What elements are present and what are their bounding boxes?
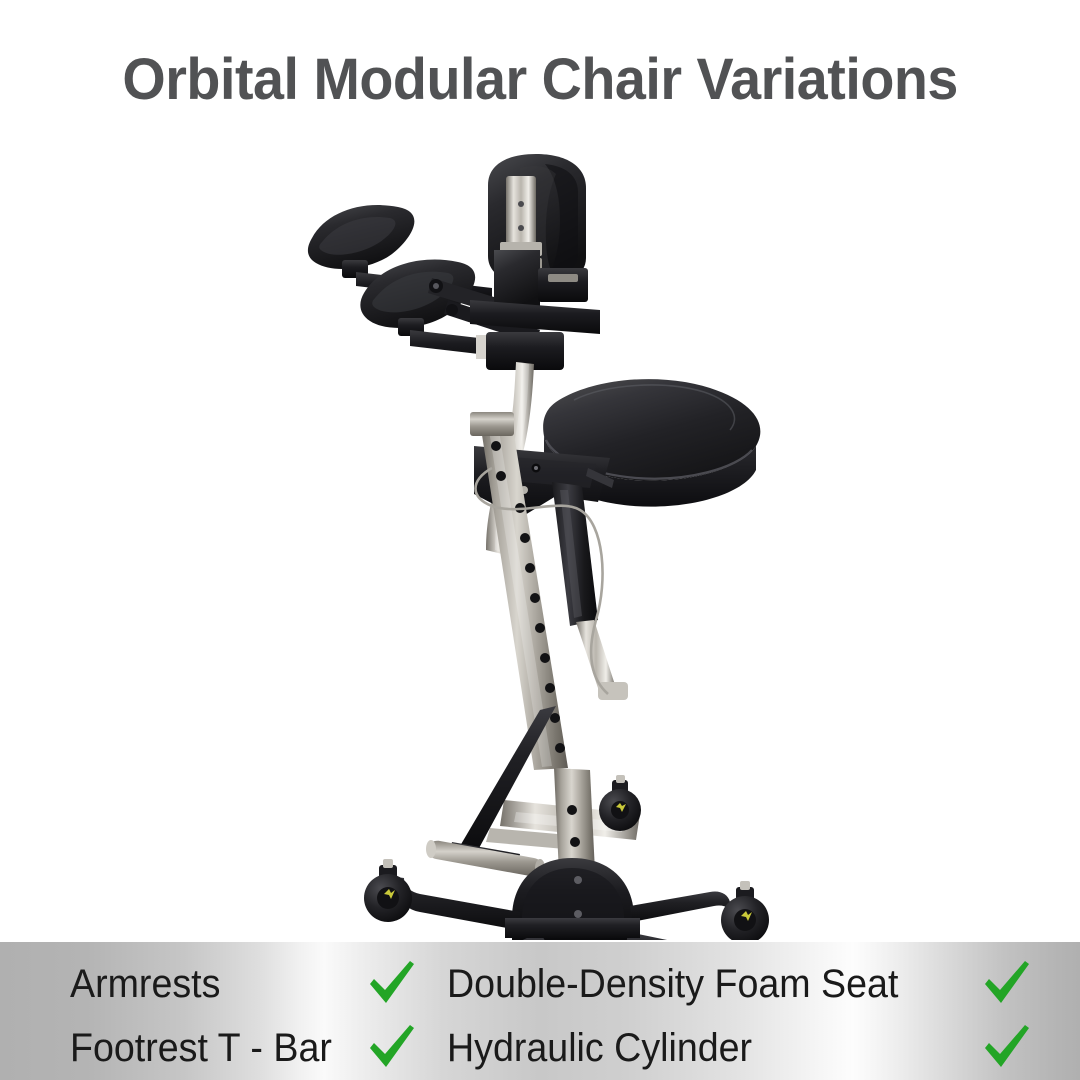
check-icon — [980, 958, 1032, 1010]
armrest-pad-rear — [308, 205, 414, 269]
feature-bar: Armrests Double-Density Foam Seat Footre… — [0, 942, 1080, 1080]
column-cap — [470, 412, 514, 436]
check-icon — [980, 1022, 1032, 1074]
feature-label: Double-Density Foam Seat — [447, 964, 898, 1004]
backrest-mount — [538, 268, 588, 302]
feature-item-double-density-foam-seat: Double-Density Foam Seat — [435, 952, 1080, 1016]
feature-label: Footrest T - Bar — [70, 1028, 332, 1068]
feature-label: Armrests — [70, 964, 220, 1004]
product-image — [0, 150, 1080, 940]
feature-item-hydraulic-cylinder: Hydraulic Cylinder — [435, 1016, 1080, 1080]
page-title: Orbital Modular Chair Variations — [122, 51, 957, 109]
footrest-t-bar — [426, 706, 556, 877]
backrest-lower-wrap — [494, 250, 540, 310]
carrier-rail — [470, 300, 600, 334]
feature-item-armrests: Armrests — [0, 952, 435, 1016]
title-area: Orbital Modular Chair Variations — [0, 0, 1080, 160]
check-icon — [365, 1022, 417, 1074]
product-feature-card: Orbital Modular Chair Variations — [0, 0, 1080, 1080]
feature-label: Hydraulic Cylinder — [447, 1028, 752, 1068]
hydraulic-cylinder — [552, 482, 628, 700]
check-icon — [365, 958, 417, 1010]
chair-illustration — [0, 150, 1080, 940]
feature-grid: Armrests Double-Density Foam Seat Footre… — [0, 942, 1080, 1080]
feature-item-footrest-t-bar: Footrest T - Bar — [0, 1016, 435, 1080]
